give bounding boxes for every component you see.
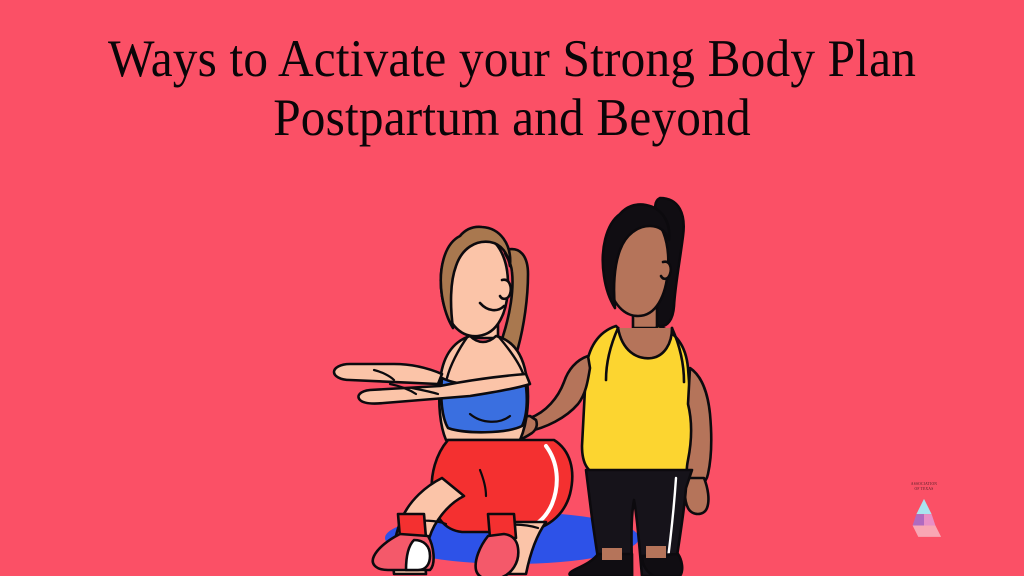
page-title: Ways to Activate your Strong Body Plan P… [36, 30, 988, 149]
woman-shoe-left-patch [406, 540, 430, 570]
squatting-woman [334, 227, 572, 576]
fitness-illustration [330, 178, 750, 576]
title-line-1: Ways to Activate your Strong Body Plan [36, 30, 988, 89]
watermark: ASSOCIATION OF TEXAS [888, 482, 960, 552]
pyramid-mid-left [913, 514, 924, 525]
trainer-ankle-right [646, 546, 666, 558]
slide-canvas: Ways to Activate your Strong Body Plan P… [0, 0, 1024, 576]
woman-arm-upper [334, 364, 442, 384]
pyramid-top [916, 499, 931, 514]
watermark-line-2: OF TEXAS [888, 487, 960, 492]
pyramid-mid-right [924, 514, 935, 525]
trainer-right-arm [687, 368, 712, 486]
pyramid-base [913, 525, 942, 536]
trainer-ankle-left [602, 548, 622, 560]
title-line-2: Postpartum and Beyond [36, 89, 988, 148]
pyramid-logo-icon [905, 495, 943, 537]
